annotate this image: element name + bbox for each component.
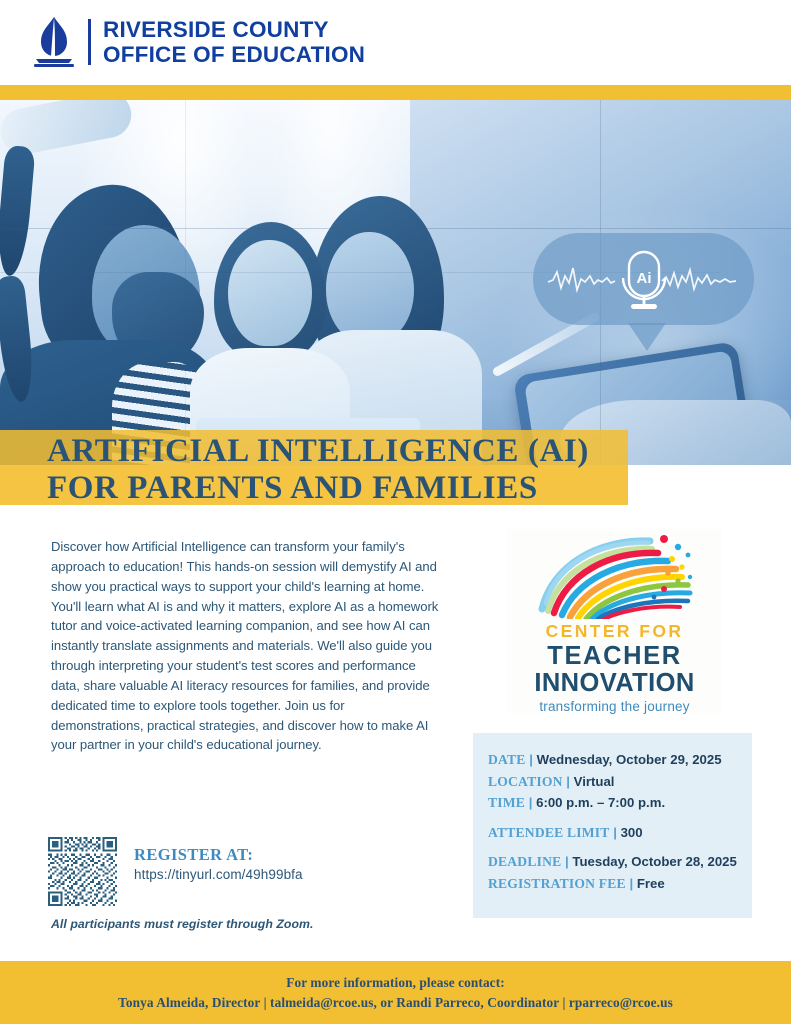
cti-logo: CENTER FOR TEACHER INNOVATION transformi… xyxy=(507,529,722,713)
detail-label-attendee-limit: ATTENDEE LIMIT xyxy=(488,825,610,840)
detail-row-date: DATE | Wednesday, October 29, 2025 xyxy=(488,749,743,771)
cti-line-teacher: TEACHER xyxy=(507,643,722,670)
qr-code-icon[interactable] xyxy=(48,837,117,906)
ai-bubble-label: Ai xyxy=(636,270,651,287)
event-details-list: DATE | Wednesday, October 29, 2025 LOCAT… xyxy=(488,749,743,894)
detail-row-attendee-limit: ATTENDEE LIMIT | 300 xyxy=(488,822,743,844)
detail-value-location: Virtual xyxy=(574,774,615,789)
detail-row-deadline: DEADLINE | Tuesday, October 28, 2025 xyxy=(488,851,743,873)
detail-separator: | xyxy=(566,774,570,789)
detail-separator: | xyxy=(629,876,633,891)
girl-face-shape xyxy=(228,240,312,346)
org-name-line2: OFFICE OF EDUCATION xyxy=(103,42,365,67)
detail-separator: | xyxy=(565,854,569,869)
rcoe-logo: RIVERSIDE COUNTY OFFICE OF EDUCATION xyxy=(28,14,365,70)
hero-photo: Ai Designed for families, all are welcom… xyxy=(0,100,791,465)
page-title-line2: FOR PARENTS AND FAMILIES xyxy=(47,470,647,507)
cti-line-center-for: CENTER FOR xyxy=(507,621,722,642)
detail-label-registration-fee: REGISTRATION FEE xyxy=(488,876,626,891)
rcoe-flame-logo-icon xyxy=(28,15,80,69)
event-details-box: DATE | Wednesday, October 29, 2025 LOCAT… xyxy=(473,733,752,918)
footer-contact-details: Tonya Almeida, Director | talmeida@rcoe.… xyxy=(118,993,673,1013)
rcoe-wordmark: RIVERSIDE COUNTY OFFICE OF EDUCATION xyxy=(103,17,365,67)
register-heading: REGISTER AT: xyxy=(134,845,303,865)
ai-speech-bubble-tail xyxy=(628,323,666,351)
page-title-line1: ARTIFICIAL INTELLIGENCE (AI) xyxy=(47,433,647,470)
page-header: RIVERSIDE COUNTY OFFICE OF EDUCATION xyxy=(0,0,791,85)
detail-value-time: 6:00 p.m. – 7:00 p.m. xyxy=(536,795,665,810)
detail-value-registration-fee: Free xyxy=(637,876,665,891)
detail-separator: | xyxy=(529,795,533,810)
cti-tagline: transforming the journey xyxy=(507,699,722,714)
org-name-line1: RIVERSIDE COUNTY xyxy=(103,17,365,42)
detail-value-deadline: Tuesday, October 28, 2025 xyxy=(572,854,736,869)
detail-separator: | xyxy=(529,752,533,767)
page-footer: For more information, please contact: To… xyxy=(0,961,791,1024)
cti-rainbow-swoosh-icon xyxy=(522,533,708,619)
audio-waveform-icon: Ai xyxy=(544,246,744,312)
detail-separator: | xyxy=(613,825,617,840)
mother-face-shape xyxy=(326,232,414,344)
detail-label-date: DATE xyxy=(488,752,526,767)
ai-bubble-content: Ai xyxy=(533,233,754,325)
detail-label-time: TIME xyxy=(488,795,525,810)
gold-divider-bar xyxy=(0,85,791,100)
detail-value-date: Wednesday, October 29, 2025 xyxy=(537,752,722,767)
logo-divider-rule xyxy=(88,19,91,65)
detail-label-deadline: DEADLINE xyxy=(488,854,561,869)
detail-value-attendee-limit: 300 xyxy=(621,825,643,840)
footer-contact-heading: For more information, please contact: xyxy=(286,973,505,993)
detail-row-registration-fee: REGISTRATION FEE | Free xyxy=(488,873,743,895)
hero-gridline-horizontal-1 xyxy=(0,228,791,229)
description-paragraph: Discover how Artificial Intelligence can… xyxy=(51,537,439,755)
detail-row-location: LOCATION | Virtual xyxy=(488,771,743,793)
hero-gridline-vertical-2 xyxy=(185,100,186,465)
zoom-registration-note: All participants must register through Z… xyxy=(51,917,314,931)
register-url[interactable]: https://tinyurl.com/49h99bfa xyxy=(134,867,303,882)
microphone-icon: Ai xyxy=(623,252,665,309)
detail-row-time: TIME | 6:00 p.m. – 7:00 p.m. xyxy=(488,792,743,814)
register-block: REGISTER AT: https://tinyurl.com/49h99bf… xyxy=(134,845,303,882)
page-title: ARTIFICIAL INTELLIGENCE (AI) FOR PARENTS… xyxy=(47,433,647,507)
detail-label-location: LOCATION xyxy=(488,774,563,789)
cti-line-innovation: INNOVATION xyxy=(507,670,722,697)
